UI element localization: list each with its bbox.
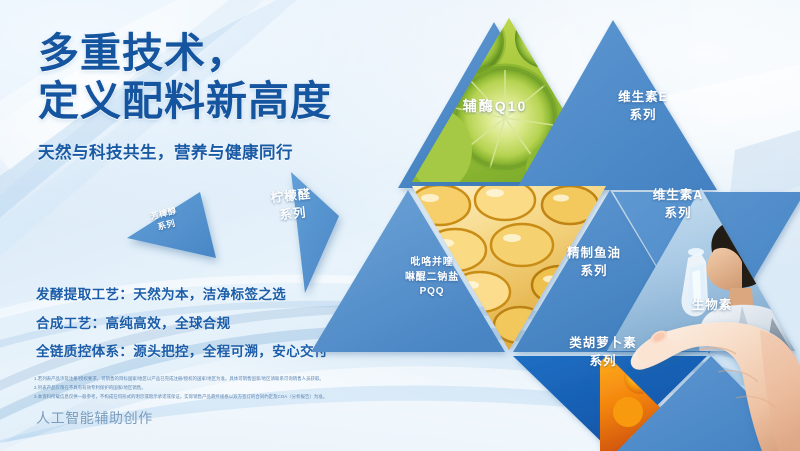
tile-citral[interactable] [291, 172, 339, 293]
poster-canvas: 多重技术， 定义配料新高度 天然与科技共生，营养与健康同行 发酵提取工艺：天然为… [0, 0, 800, 451]
tile-linalool[interactable] [127, 192, 216, 258]
triangle-mosaic [0, 0, 800, 451]
